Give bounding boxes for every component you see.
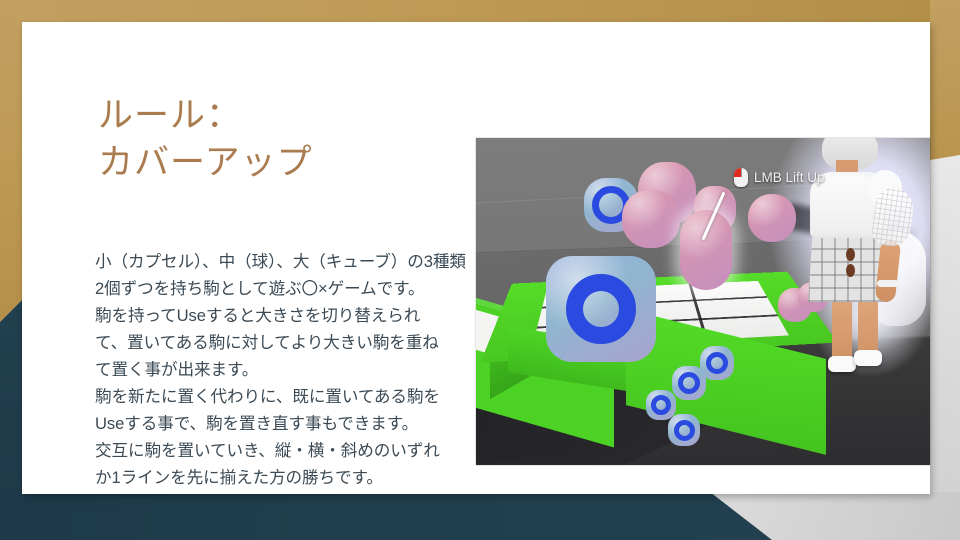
piece-o-rail-c (646, 390, 676, 420)
avatar-skirt-button (846, 248, 855, 261)
mouse-lmb-icon (734, 168, 748, 187)
slide-root: ルール： カバーアップ 小（カプセル）、中（球）、大（キューブ）の3種類 2個ず… (0, 0, 960, 540)
mark-o-icon (706, 352, 728, 374)
interaction-tooltip: LMB Lift Up (734, 168, 825, 187)
avatar-wrist-band (877, 280, 899, 287)
piece-o-rail-d (668, 414, 700, 446)
piece-o-rail-b (672, 366, 706, 400)
mark-o-icon (678, 372, 700, 394)
gold-left-band (0, 0, 22, 322)
mark-o-icon (566, 274, 636, 344)
piece-x-medium-sphere-left (622, 190, 680, 248)
avatar-skirt-button (846, 264, 855, 277)
piece-o-large-cube (546, 256, 656, 362)
rules-body-text: 小（カプセル）、中（球）、大（キューブ）の3種類 2個ずつを持ち駒として遊ぶ〇×… (95, 248, 475, 491)
piece-x-held-capsule[interactable] (680, 210, 732, 290)
mark-o-icon (674, 420, 695, 441)
mark-x-icon (691, 235, 721, 265)
mark-x-icon (636, 204, 666, 234)
tooltip-label: LMB Lift Up (754, 170, 825, 185)
avatar-sandal-left (828, 356, 856, 372)
avatar-leg-left (832, 292, 852, 364)
avatar-sandal-right (854, 350, 882, 366)
gold-top-band (0, 0, 960, 22)
page-title: ルール： カバーアップ (98, 92, 468, 187)
game-screenshot: LMB Lift Up (476, 138, 930, 465)
mark-o-icon (651, 395, 671, 415)
gray-right-panel (930, 155, 960, 540)
mouse-button-divider (741, 168, 742, 177)
